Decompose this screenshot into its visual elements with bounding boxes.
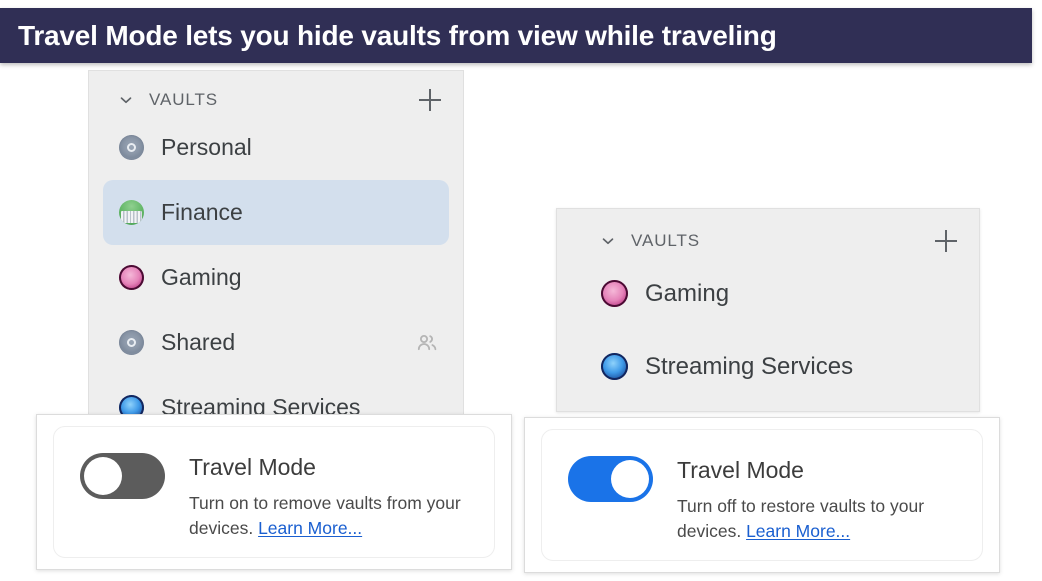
vault-item-label: Personal: [161, 134, 252, 161]
toggle-knob: [84, 457, 122, 495]
travel-mode-description: Turn on to remove vaults from your devic…: [189, 491, 479, 541]
travel-mode-inner-on: Travel Mode Turn off to restore vaults t…: [541, 429, 983, 561]
vaults-header-label-left: VAULTS: [149, 90, 218, 110]
chevron-down-icon: [599, 232, 617, 250]
vault-list-left: Personal Finance Gaming Shared: [89, 115, 463, 418]
vault-panel-before: VAULTS Personal Finance Gaming Shared: [88, 70, 464, 418]
vault-icon-gray: [119, 330, 144, 355]
vault-item-gaming[interactable]: Gaming: [103, 245, 449, 310]
vault-item-label: Finance: [161, 199, 243, 226]
vault-item-label: Streaming Services: [645, 353, 853, 381]
travel-mode-text-on: Travel Mode Turn off to restore vaults t…: [677, 456, 967, 544]
learn-more-link[interactable]: Learn More...: [258, 518, 362, 538]
travel-mode-text-off: Travel Mode Turn on to remove vaults fro…: [189, 453, 479, 541]
vault-item-streaming-services[interactable]: Streaming Services: [103, 375, 449, 418]
vault-icon-finance: [119, 200, 144, 225]
vault-icon-gray: [119, 135, 144, 160]
learn-more-link[interactable]: Learn More...: [746, 521, 850, 541]
travel-mode-toggle-on[interactable]: [568, 456, 653, 502]
travel-mode-title: Travel Mode: [677, 458, 967, 483]
plus-icon[interactable]: [419, 89, 441, 111]
vault-icon-stream: [601, 353, 628, 380]
vault-icon-gaming: [119, 265, 144, 290]
vault-item-label: Shared: [161, 329, 235, 356]
vault-panel-after: VAULTS Gaming Streaming Services: [556, 208, 980, 412]
toggle-knob: [611, 460, 649, 498]
vaults-header-label-right: VAULTS: [631, 231, 700, 251]
vaults-section-header-left[interactable]: VAULTS: [89, 71, 463, 115]
vault-item-shared[interactable]: Shared: [103, 310, 449, 375]
chevron-down-icon: [117, 91, 135, 109]
vault-item-streaming-services[interactable]: Streaming Services: [571, 330, 965, 403]
travel-mode-title: Travel Mode: [189, 455, 479, 480]
vaults-section-header-right[interactable]: VAULTS: [557, 209, 979, 257]
vault-item-label: Gaming: [161, 264, 242, 291]
headline-banner: Travel Mode lets you hide vaults from vi…: [0, 8, 1032, 63]
vault-list-right: Gaming Streaming Services: [557, 257, 979, 403]
vault-item-personal[interactable]: Personal: [103, 115, 449, 180]
travel-mode-toggle-off[interactable]: [80, 453, 165, 499]
travel-mode-description: Turn off to restore vaults to your devic…: [677, 494, 967, 544]
vault-item-finance[interactable]: Finance: [103, 180, 449, 245]
vault-item-gaming[interactable]: Gaming: [571, 257, 965, 330]
travel-mode-card-on: Travel Mode Turn off to restore vaults t…: [524, 417, 1000, 573]
plus-icon[interactable]: [935, 230, 957, 252]
travel-mode-card-off: Travel Mode Turn on to remove vaults fro…: [36, 414, 512, 570]
banner-text: Travel Mode lets you hide vaults from vi…: [18, 20, 777, 52]
screenshot-root: Travel Mode lets you hide vaults from vi…: [0, 0, 1042, 581]
people-icon: [415, 331, 439, 355]
vault-item-label: Gaming: [645, 280, 729, 308]
vault-icon-gaming: [601, 280, 628, 307]
travel-mode-inner-off: Travel Mode Turn on to remove vaults fro…: [53, 426, 495, 558]
